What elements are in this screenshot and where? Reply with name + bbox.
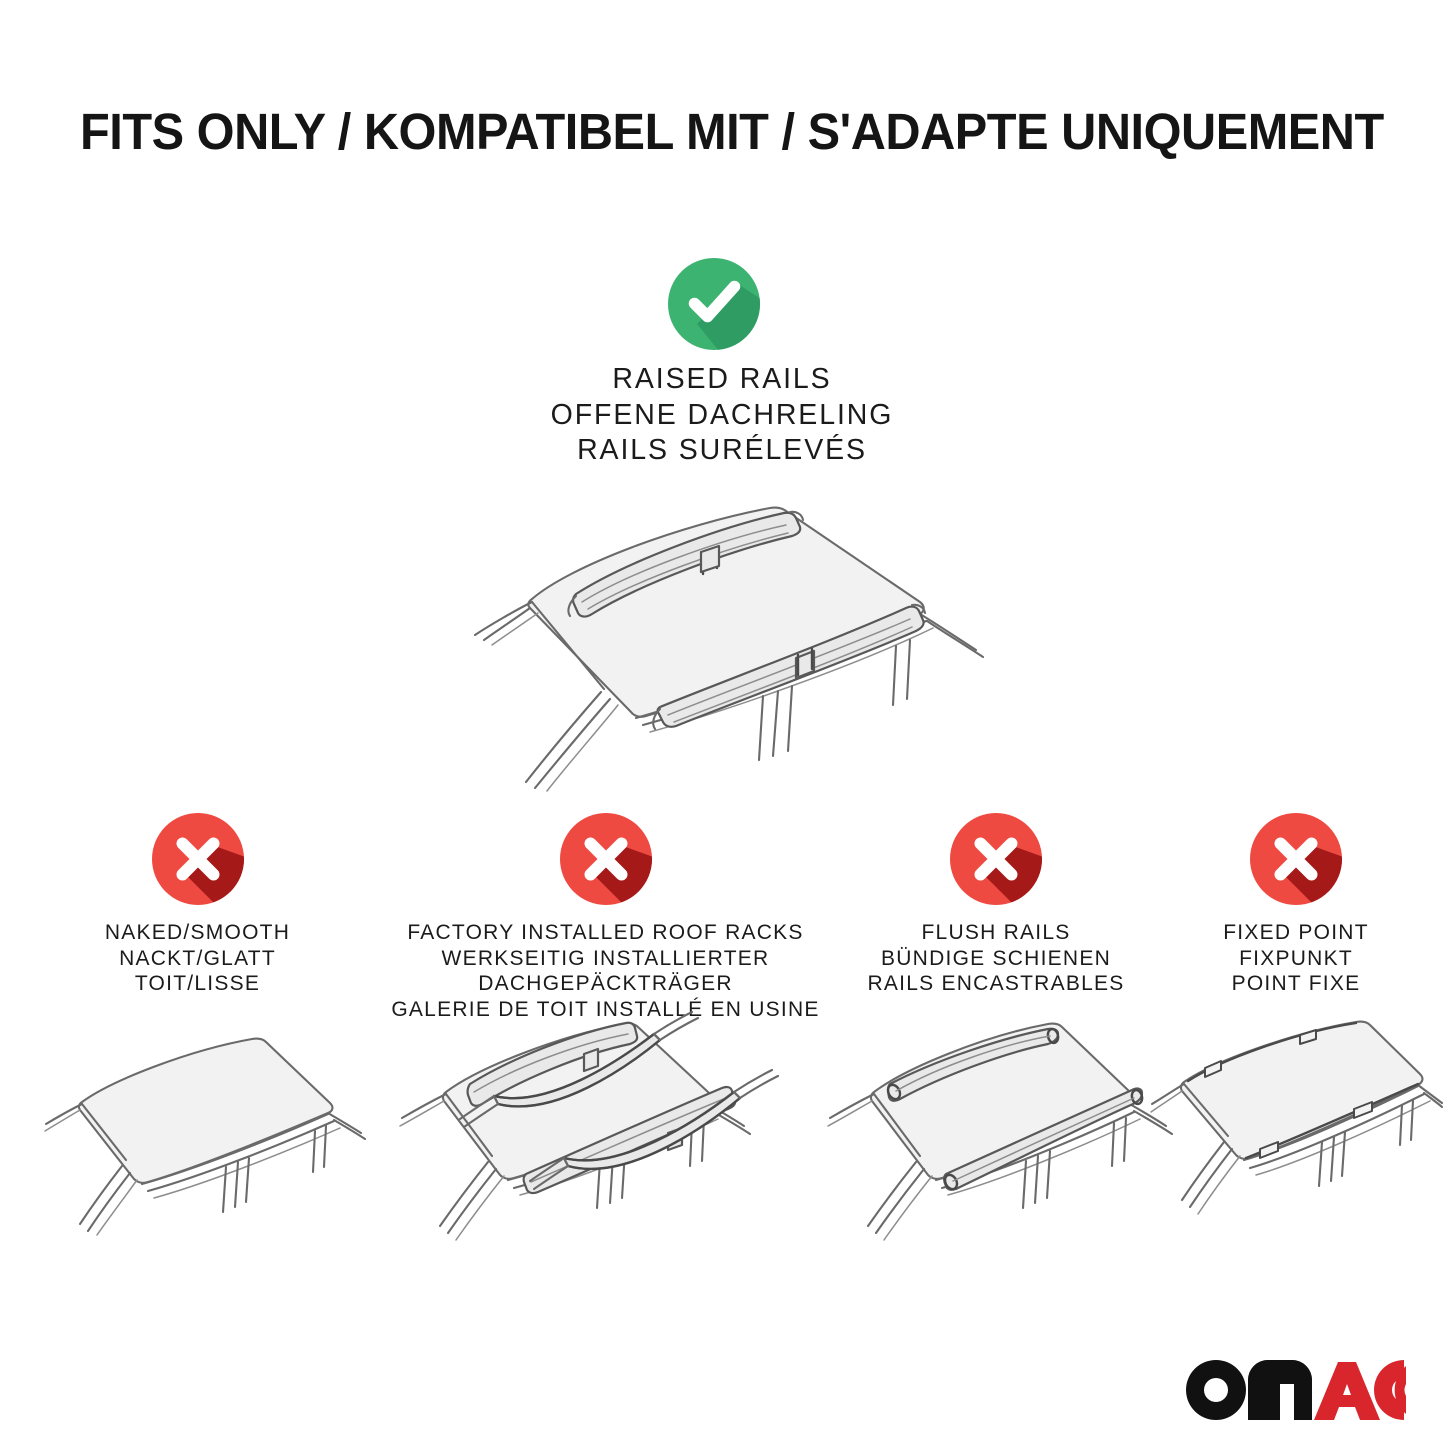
option-caption-line-1: FIXED POINT <box>1150 920 1442 946</box>
logo-letter-o <box>1186 1360 1246 1420</box>
option-caption-line-2: NACKT/GLATT <box>30 946 365 972</box>
option-caption-line-1: FLUSH RAILS <box>812 920 1180 946</box>
check-circle-icon <box>667 257 761 351</box>
compatible-caption-line-2: OFFENE DACHRELING <box>422 398 1022 434</box>
cross-circle-icon <box>1249 812 1343 906</box>
promo-graphic-canvas: FITS ONLY / KOMPATIBEL MIT / S'ADAPTE UN… <box>0 0 1445 1445</box>
option-caption-line-2: FIXPUNKT <box>1150 946 1442 972</box>
factory-roof-racks-illustration <box>368 1008 843 1258</box>
option-caption-line-3: DACHGEPÄCKTRÄGER <box>368 971 843 997</box>
option-caption-line-3: TOIT/LISSE <box>30 971 365 997</box>
compatible-caption-line-1: RAISED RAILS <box>422 362 1022 398</box>
compatible-caption: RAISED RAILS OFFENE DACHRELING RAILS SUR… <box>422 362 1022 469</box>
omac-logo <box>1186 1358 1406 1420</box>
page-title: FITS ONLY / KOMPATIBEL MIT / S'ADAPTE UN… <box>80 104 1322 160</box>
option-caption: FIXED POINT FIXPUNKT POINT FIXE <box>1150 920 1442 997</box>
raised-rails-illustration <box>420 492 1045 792</box>
compatible-caption-line-3: RAILS SURÉLEVÉS <box>422 433 1022 469</box>
option-caption: FACTORY INSTALLED ROOF RACKS WERKSEITIG … <box>368 920 843 1022</box>
cross-circle-icon <box>151 812 245 906</box>
option-caption-line-1: FACTORY INSTALLED ROOF RACKS <box>368 920 843 946</box>
option-caption-line-3: POINT FIXE <box>1150 971 1442 997</box>
option-caption: NAKED/SMOOTH NACKT/GLATT TOIT/LISSE <box>30 920 365 997</box>
option-caption-line-2: BÜNDIGE SCHIENEN <box>812 946 1180 972</box>
bare-roof-illustration <box>30 1024 365 1254</box>
cross-circle-icon <box>559 812 653 906</box>
flush-rails-illustration <box>812 1008 1180 1258</box>
logo-letter-a <box>1314 1362 1380 1420</box>
option-caption-line-3: RAILS ENCASTRABLES <box>812 971 1180 997</box>
option-caption: FLUSH RAILS BÜNDIGE SCHIENEN RAILS ENCAS… <box>812 920 1180 997</box>
cross-circle-icon <box>949 812 1043 906</box>
option-caption-line-1: NAKED/SMOOTH <box>30 920 365 946</box>
option-caption-line-2: WERKSEITIG INSTALLIERTER <box>368 946 843 972</box>
fixed-point-illustration <box>1150 1008 1442 1258</box>
